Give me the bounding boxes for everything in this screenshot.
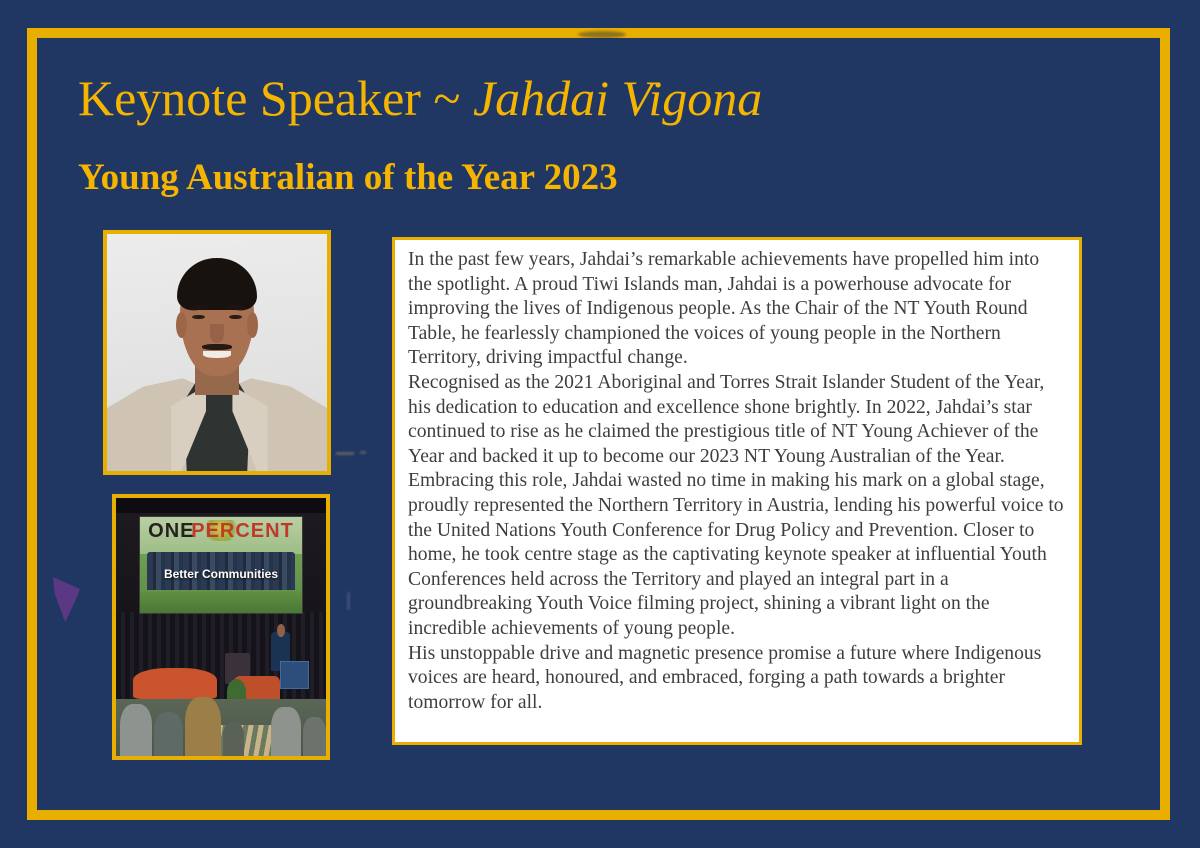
conference-orange-couch: [133, 668, 217, 699]
conference-projection-screen: ONE PERCENT Better Communities: [139, 516, 303, 614]
conference-audience-member: [120, 704, 152, 756]
slide-heading-name: Jahdai Vigona: [473, 70, 762, 126]
faint-artifact-a: [336, 452, 354, 455]
slide-heading-plain: Keynote Speaker ~: [78, 70, 473, 126]
biography-text-panel: In the past few years, Jahdai’s remarkab…: [392, 237, 1082, 745]
faint-artifact-c: [347, 592, 350, 610]
conference-podium: [280, 661, 309, 689]
slide-subheading: Young Australian of the Year 2023: [78, 158, 618, 199]
projection-slide-word-percent: PERCENT: [191, 521, 294, 541]
purple-smudge-artifact: [52, 572, 80, 622]
slide-heading: Keynote Speaker ~ Jahdai Vigona: [78, 72, 762, 125]
conference-audience-member: [271, 707, 300, 756]
conference-audience-member: [223, 722, 244, 756]
projection-slide-grass: [140, 592, 302, 613]
conference-audience-member: [185, 697, 221, 756]
portrait-nose: [210, 324, 223, 343]
portrait-hair: [177, 258, 256, 310]
conference-audience-member: [303, 717, 326, 756]
portrait-photo: [103, 230, 331, 475]
portrait-artwork: [107, 234, 327, 471]
projection-slide-word-one: ONE: [148, 521, 194, 541]
bio-paragraph: Recognised as the 2021 Aboriginal and To…: [408, 371, 1066, 469]
faint-artifact-b: [360, 451, 366, 454]
bio-paragraph: Embracing this role, Jahdai wasted no ti…: [408, 469, 1066, 641]
conference-photo: ONE PERCENT Better Communities: [112, 494, 330, 760]
frame-smudge-artifact-top: [578, 31, 626, 38]
conference-ceiling: [116, 498, 326, 513]
portrait-ear-right: [247, 312, 258, 338]
bio-paragraph: His unstoppable drive and magnetic prese…: [408, 642, 1066, 716]
projection-slide-caption: Better Communities: [140, 567, 302, 581]
conference-audience-member: [154, 712, 183, 756]
bio-paragraph: In the past few years, Jahdai’s remarkab…: [408, 248, 1066, 371]
slide-canvas: Keynote Speaker ~ Jahdai Vigona Young Au…: [0, 0, 1200, 848]
